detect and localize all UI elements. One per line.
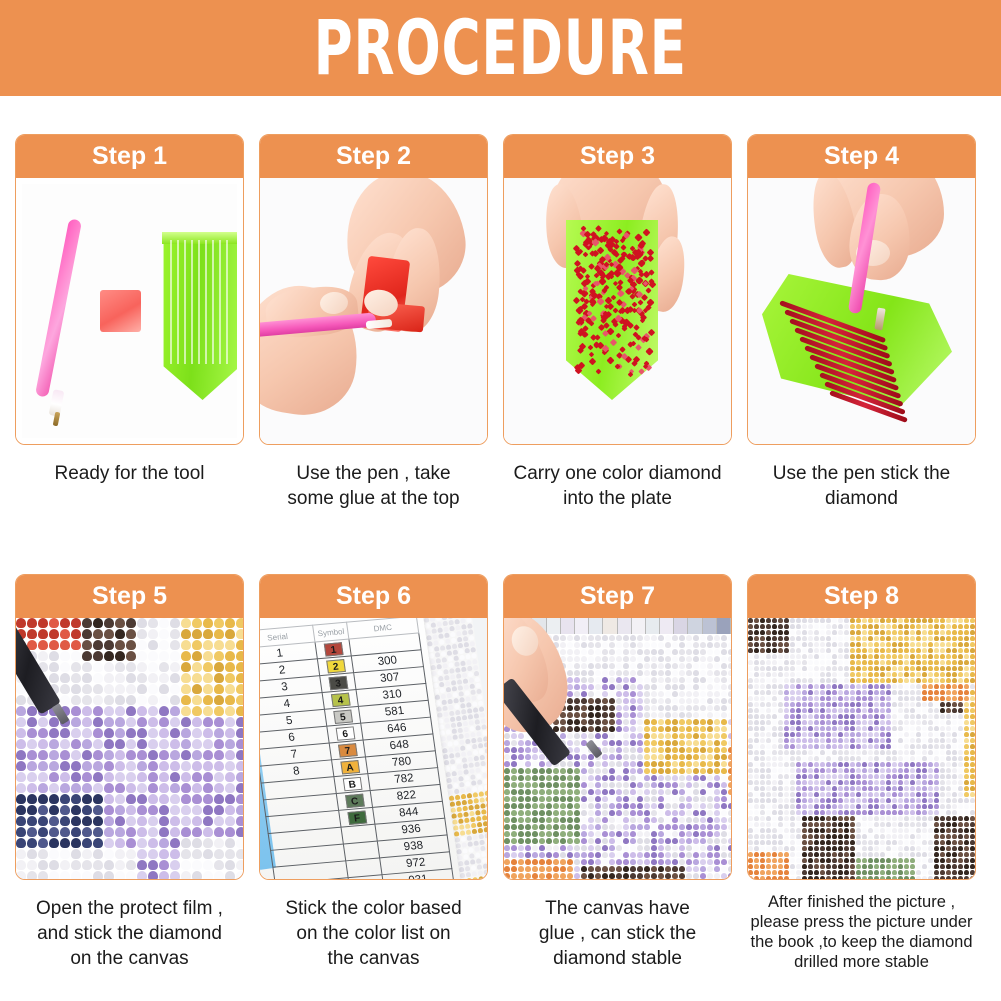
step-title-8: Step 8 — [748, 575, 975, 618]
step-card-2[interactable]: Step 2 — [259, 134, 488, 445]
step-title-4: Step 4 — [748, 135, 975, 178]
procedure-infographic: PROCEDURE Step 1 Rea — [0, 0, 1001, 1001]
canvas-pen-photo — [504, 618, 731, 879]
red-diamonds-cluster — [574, 226, 650, 374]
step-card-7[interactable]: Step 7 — [503, 574, 732, 880]
symbol-swatch: 1 — [323, 642, 343, 656]
symbol-swatch: F — [347, 810, 367, 824]
finished-painting-photo — [748, 618, 975, 879]
symbol-swatch: 7 — [338, 743, 358, 757]
step-caption-5: Open the protect film , and stick the di… — [15, 896, 244, 971]
step-caption-6: Stick the color based on the color list … — [259, 896, 488, 971]
step-cell-2: Step 2 — [259, 134, 488, 511]
step-photo-7 — [504, 618, 731, 879]
step-card-1[interactable]: Step 1 — [15, 134, 244, 445]
step-photo-1 — [16, 178, 243, 444]
steps-row-bottom: Step 5 Open the protect film , and stick… — [15, 574, 986, 973]
step-title-1: Step 1 — [16, 135, 243, 178]
step-photo-4 — [748, 178, 975, 444]
step-cell-1: Step 1 Ready for the tool — [15, 134, 244, 511]
tray-grooves — [170, 240, 232, 364]
step-photo-5 — [16, 618, 243, 879]
symbol-swatch: 2 — [326, 659, 346, 673]
step-title-5: Step 5 — [16, 575, 243, 618]
step-cell-8: Step 8 After finished the picture , plea… — [747, 574, 976, 973]
page-title: PROCEDURE — [314, 10, 687, 86]
step-title-2: Step 2 — [260, 135, 487, 178]
step-caption-4: Use the pen stick the diamond — [747, 461, 976, 511]
step-title-6: Step 6 — [260, 575, 487, 618]
step-cell-4: Step 4 Use the pen stick the diamond — [747, 134, 976, 511]
bead-mosaic — [16, 618, 243, 879]
step-photo-3 — [504, 178, 731, 444]
step-card-4[interactable]: Step 4 — [747, 134, 976, 445]
step-card-3[interactable]: Step 3 — [503, 134, 732, 445]
symbol-swatch: 5 — [333, 709, 353, 723]
tools-photo — [22, 184, 237, 438]
step-caption-3: Carry one color diamond into the plate — [503, 461, 732, 511]
symbol-swatch: A — [340, 760, 360, 774]
color-chart-photo: SerialSymbolDMC 112230033307443105558166… — [260, 618, 487, 879]
symbol-swatch: B — [342, 776, 362, 790]
step-cell-6: Step 6 SerialSymbolDMC 11223003330744310… — [259, 574, 488, 973]
step-caption-8: After finished the picture , please pres… — [739, 892, 984, 973]
page-header-banner: PROCEDURE — [0, 0, 1001, 96]
step-caption-1: Ready for the tool — [15, 461, 244, 486]
bead-canvas-photo — [16, 618, 243, 879]
symbol-swatch: C — [345, 793, 365, 807]
step-card-6[interactable]: Step 6 SerialSymbolDMC 11223003330744310… — [259, 574, 488, 880]
bead-mosaic — [748, 618, 975, 879]
step-card-5[interactable]: Step 5 — [15, 574, 244, 880]
step-photo-2 — [260, 178, 487, 444]
steps-row-top: Step 1 Ready for the tool — [15, 134, 986, 511]
tray-diamonds-photo — [504, 178, 731, 444]
hands-glue-photo — [260, 178, 487, 444]
pink-pen-body — [35, 218, 82, 397]
step-caption-7: The canvas have glue , can stick the dia… — [503, 896, 732, 971]
pen-picking-photo — [748, 178, 975, 444]
step-photo-6: SerialSymbolDMC 112230033307443105558166… — [260, 618, 487, 879]
step-title-7: Step 7 — [504, 575, 731, 618]
step-title-3: Step 3 — [504, 135, 731, 178]
pink-pen-point — [53, 412, 61, 427]
step-photo-8 — [748, 618, 975, 879]
symbol-swatch: 3 — [328, 675, 348, 689]
step-caption-2: Use the pen , take some glue at the top — [259, 461, 488, 511]
step-cell-3: Step 3 Carry one color diamond into the … — [503, 134, 732, 511]
step-card-8[interactable]: Step 8 — [747, 574, 976, 880]
glue-square — [100, 290, 141, 332]
symbol-swatch: 4 — [331, 692, 351, 706]
step-cell-5: Step 5 Open the protect film , and stick… — [15, 574, 244, 973]
step-cell-7: Step 7 The canvas have glue , can stick … — [503, 574, 732, 973]
symbol-swatch: 6 — [335, 726, 355, 740]
